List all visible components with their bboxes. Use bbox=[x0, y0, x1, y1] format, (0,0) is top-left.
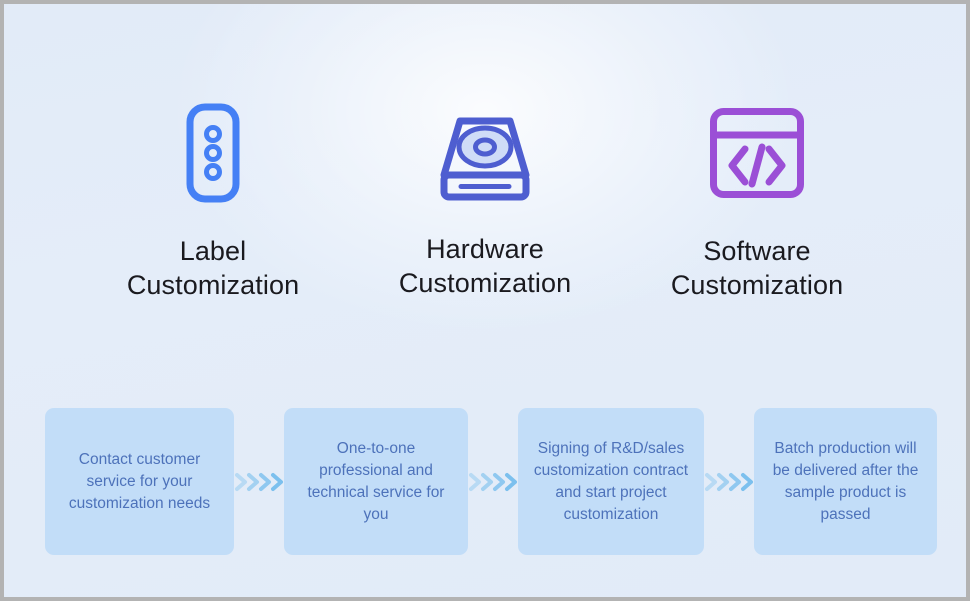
feature-title-software: Software Customization bbox=[671, 234, 843, 302]
process-step-text: Signing of R&D/sales customization contr… bbox=[530, 438, 692, 526]
process-arrow-3 bbox=[704, 408, 754, 555]
feature-row: Label Customization Hardware Customizati… bbox=[4, 100, 966, 302]
feature-title-line1: Label bbox=[127, 234, 299, 268]
process-step-text: Batch production will be delivered after… bbox=[766, 438, 925, 526]
feature-title-line1: Software bbox=[671, 234, 843, 268]
process-step-row: Contact customer service for your custom… bbox=[45, 408, 929, 555]
feature-card-hardware[interactable]: Hardware Customization bbox=[349, 100, 621, 302]
process-step-1[interactable]: Contact customer service for your custom… bbox=[45, 408, 234, 555]
feature-card-label[interactable]: Label Customization bbox=[77, 100, 349, 302]
double-chevron-right-icon bbox=[468, 469, 518, 495]
process-step-4[interactable]: Batch production will be delivered after… bbox=[754, 408, 937, 555]
feature-card-software[interactable]: Software Customization bbox=[621, 100, 893, 302]
feature-title-line2: Customization bbox=[399, 266, 571, 300]
feature-title-line1: Hardware bbox=[399, 232, 571, 266]
process-arrow-1 bbox=[234, 408, 284, 555]
double-chevron-right-icon bbox=[704, 469, 754, 495]
process-step-text: One-to-one professional and technical se… bbox=[296, 438, 456, 526]
infographic-canvas: Label Customization Hardware Customizati… bbox=[4, 4, 966, 597]
label-tag-icon bbox=[186, 100, 240, 206]
feature-title-label: Label Customization bbox=[127, 234, 299, 302]
process-arrow-2 bbox=[468, 408, 518, 555]
process-step-2[interactable]: One-to-one professional and technical se… bbox=[284, 408, 468, 555]
process-step-3[interactable]: Signing of R&D/sales customization contr… bbox=[518, 408, 704, 555]
hardware-drive-icon bbox=[433, 100, 537, 206]
feature-title-line2: Customization bbox=[671, 268, 843, 302]
software-code-window-icon bbox=[708, 100, 806, 206]
process-step-text: Contact customer service for your custom… bbox=[57, 449, 222, 515]
feature-title-line2: Customization bbox=[127, 268, 299, 302]
feature-title-hardware: Hardware Customization bbox=[399, 232, 571, 300]
double-chevron-right-icon bbox=[234, 469, 284, 495]
